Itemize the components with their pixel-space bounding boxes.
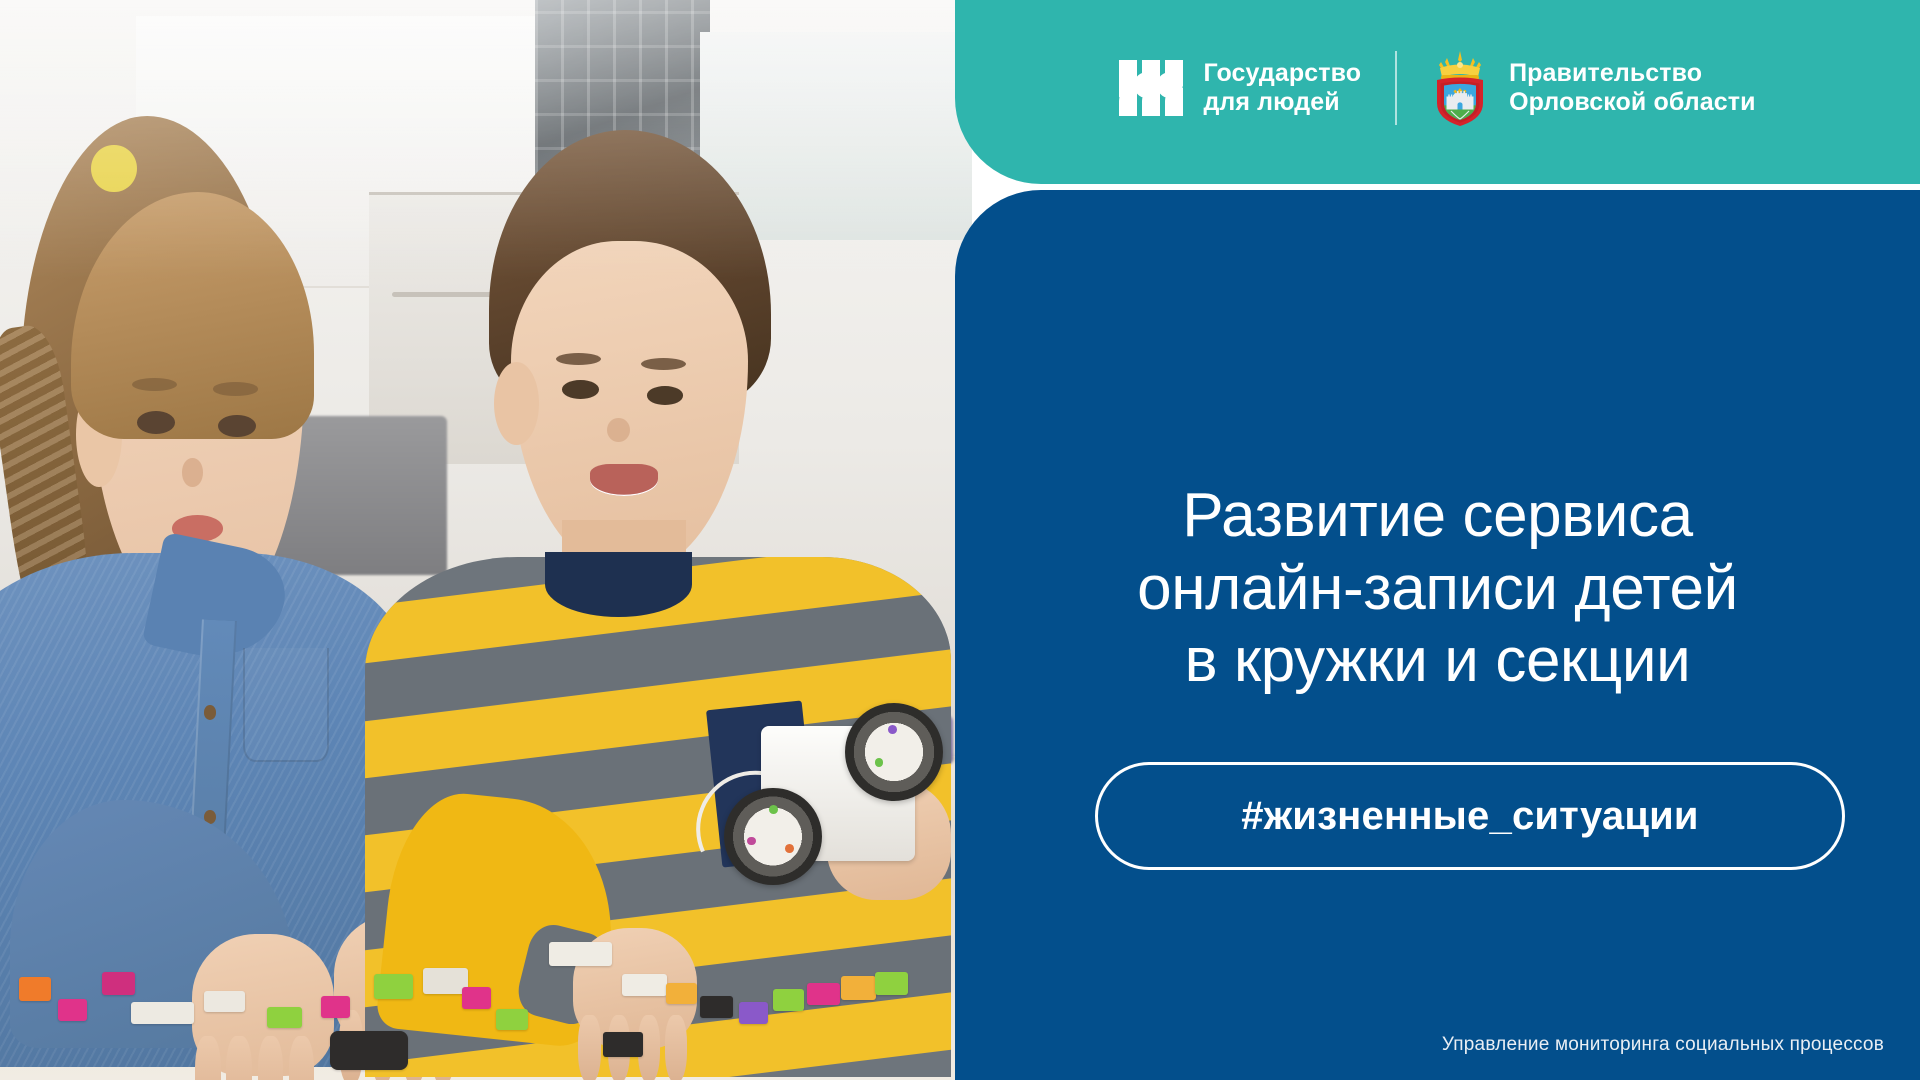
photo-part bbox=[330, 1031, 408, 1070]
photo-part bbox=[841, 976, 876, 1000]
photo-part bbox=[739, 1002, 768, 1024]
photo-robot-kit bbox=[719, 670, 952, 951]
gos-mark-icon bbox=[1119, 56, 1183, 120]
boy-mouth bbox=[590, 464, 658, 496]
boy-nose bbox=[607, 418, 630, 442]
photo-part bbox=[700, 996, 733, 1019]
boy-collar bbox=[545, 552, 692, 617]
photo-part bbox=[102, 972, 135, 995]
photo-part bbox=[622, 974, 667, 996]
photo-part bbox=[131, 1002, 194, 1024]
girl-hair-tie bbox=[91, 145, 136, 193]
girl-eye-left bbox=[137, 411, 175, 434]
girl-eyebrow-left bbox=[132, 378, 177, 391]
photo-part bbox=[19, 977, 50, 1001]
boy-eye-right bbox=[647, 386, 684, 405]
photo-part bbox=[204, 991, 245, 1012]
photo-part bbox=[267, 1007, 302, 1029]
photo-part bbox=[875, 972, 908, 995]
girl-eye-right bbox=[218, 415, 256, 438]
photo-part bbox=[549, 942, 612, 966]
photo-part bbox=[807, 983, 840, 1006]
girl-shirt-button bbox=[204, 705, 216, 719]
photo-part bbox=[603, 1032, 644, 1057]
footer-attribution: Управление мониторинга социальных процес… bbox=[1442, 1034, 1884, 1056]
photo-part bbox=[496, 1009, 528, 1031]
boy-eyebrow-left bbox=[556, 353, 601, 365]
girl-nose bbox=[182, 458, 202, 487]
robot-wheel bbox=[724, 788, 822, 886]
page-title-line-3: в кружки и секции bbox=[995, 625, 1880, 698]
robot-wheel bbox=[845, 703, 943, 801]
poster-canvas: Государство для людей bbox=[0, 0, 1920, 1080]
page-title: Развитие сервиса онлайн-записи детей в к… bbox=[955, 480, 1920, 698]
boy-eye-left bbox=[562, 380, 599, 399]
oryol-coat-of-arms-icon bbox=[1431, 49, 1489, 127]
girl-shirt-pocket bbox=[243, 648, 329, 762]
brand-gov-block: Правительство Орловской области bbox=[1431, 49, 1755, 127]
photo-part bbox=[58, 999, 87, 1021]
brand-gov-label: Правительство Орловской области bbox=[1509, 59, 1755, 117]
girl-eyebrow-right bbox=[213, 382, 258, 395]
brand-row: Государство для людей bbox=[1119, 49, 1755, 127]
photo-part bbox=[773, 989, 804, 1011]
brand-bar: Государство для людей bbox=[955, 0, 1920, 184]
brand-gos-label: Государство для людей bbox=[1203, 59, 1361, 117]
photo-part bbox=[666, 983, 697, 1005]
photo-part bbox=[423, 968, 468, 994]
brand-gos-block: Государство для людей bbox=[1119, 56, 1361, 120]
photo-children-robotics bbox=[0, 0, 972, 1080]
photo-part bbox=[462, 987, 491, 1009]
photo-part bbox=[374, 974, 413, 999]
hashtag-button[interactable]: #жизненные_ситуации bbox=[1095, 762, 1845, 870]
photo-part bbox=[321, 996, 350, 1019]
page-title-line-1: Развитие сервиса bbox=[995, 480, 1880, 553]
brand-divider bbox=[1395, 51, 1397, 125]
page-title-line-2: онлайн-записи детей bbox=[995, 553, 1880, 626]
content-panel: Развитие сервиса онлайн-записи детей в к… bbox=[955, 190, 1920, 1080]
